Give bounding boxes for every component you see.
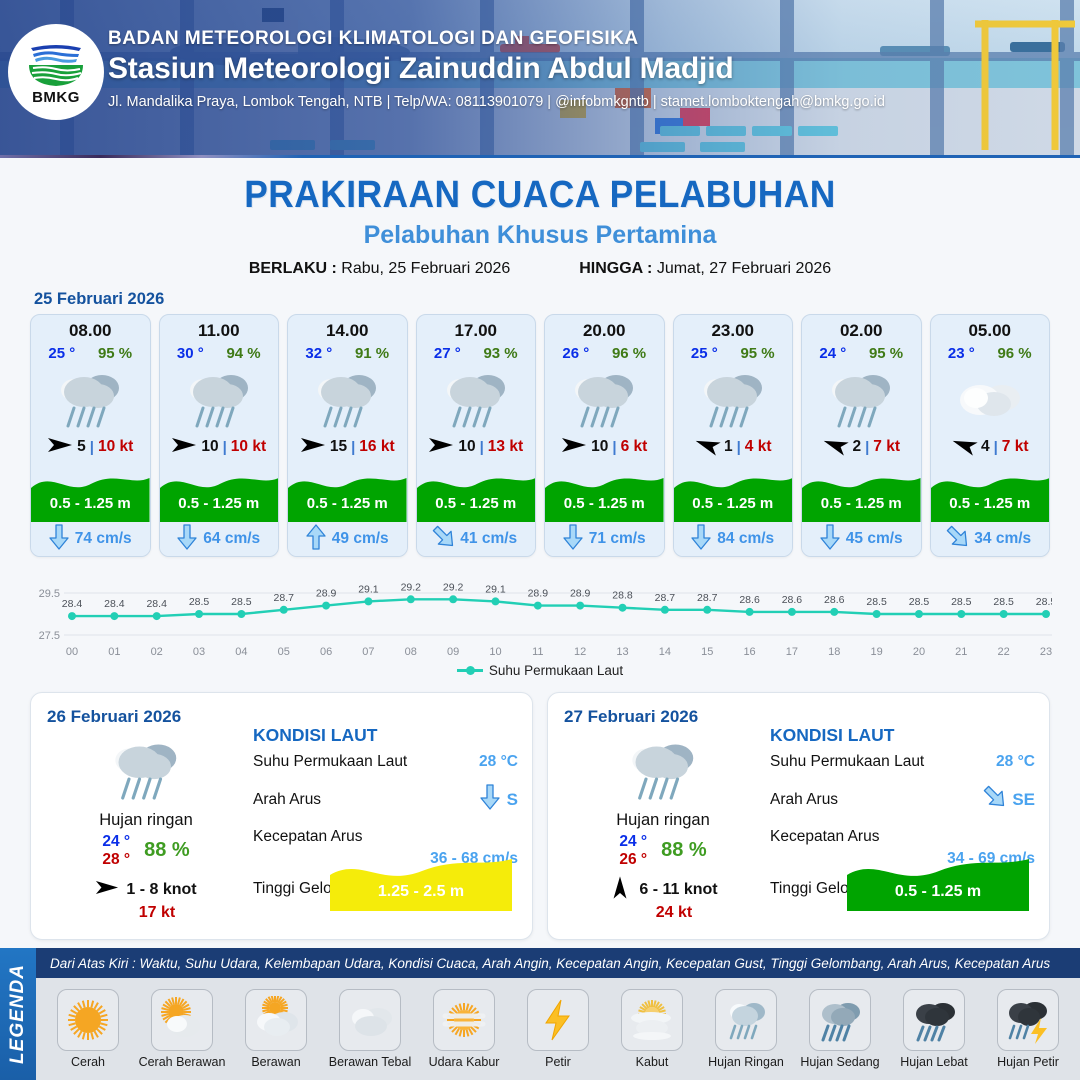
- current-direction-arrow-icon: [820, 524, 840, 555]
- wind-gust: 4 kt: [745, 438, 772, 456]
- svg-text:09: 09: [447, 646, 459, 658]
- weather-hujan-ringan-icon: [51, 731, 241, 809]
- svg-text:02: 02: [151, 646, 163, 658]
- hingga-value: Jumat, 27 Februari 2026: [657, 260, 831, 277]
- legend-items: Cerah Cerah Berawan Berawan Berawan Teba…: [36, 978, 1080, 1080]
- card-wave: 0.5 - 1.25 m: [674, 462, 793, 522]
- forecast-card: 08.00 25 ° 95 % 5 | 10 kt 0.5 - 1.25 m: [30, 314, 151, 557]
- wind-gust: 6 kt: [621, 438, 648, 456]
- wind-direction-arrow-icon: [951, 436, 977, 459]
- wind-speed: 4: [981, 438, 990, 456]
- legend-item: Kabut: [606, 989, 698, 1069]
- svg-text:10: 10: [489, 646, 501, 658]
- svg-text:06: 06: [320, 646, 332, 658]
- svg-text:18: 18: [828, 646, 840, 658]
- daily-humidity: 88 %: [144, 839, 190, 862]
- card-wind: 10 | 13 kt: [417, 434, 536, 460]
- card-wind: 1 | 4 kt: [674, 434, 793, 460]
- wind-gust: 13 kt: [488, 438, 523, 456]
- svg-text:28.7: 28.7: [274, 592, 295, 604]
- legend-label: Suhu Permukaan Laut: [489, 663, 623, 678]
- weather-berawan-icon: [931, 362, 1050, 436]
- svg-text:28.4: 28.4: [62, 598, 83, 610]
- wind-direction-arrow-icon: [561, 436, 587, 459]
- title-block: PRAKIRAAN CUACA PELABUHAN Pelabuhan Khus…: [0, 174, 1080, 278]
- card-wave: 0.5 - 1.25 m: [417, 462, 536, 522]
- svg-text:29.5: 29.5: [39, 588, 60, 600]
- legend-item-label: Cerah: [71, 1055, 105, 1069]
- chart-legend: Suhu Permukaan Laut: [28, 663, 1052, 678]
- svg-text:08: 08: [405, 646, 417, 658]
- legend-item-label: Berawan: [251, 1055, 300, 1069]
- daily-wind-direction-arrow-icon: [95, 879, 119, 901]
- daily-forecast-panel: 26 Februari 2026 Hujan ringan 24 ° 28 ° …: [30, 692, 533, 940]
- svg-text:28.9: 28.9: [316, 588, 337, 600]
- card-wave: 0.5 - 1.25 m: [31, 462, 150, 522]
- svg-text:01: 01: [108, 646, 120, 658]
- wind-separator: |: [994, 439, 998, 456]
- wave-height: 0.5 - 1.25 m: [931, 495, 1050, 512]
- current-speed: 49 cm/s: [332, 530, 389, 548]
- hourly-forecast-row: 08.00 25 ° 95 % 5 | 10 kt 0.5 - 1.25 m: [0, 314, 1080, 557]
- daily-wave-value: 0.5 - 1.25 m: [847, 883, 1029, 901]
- current-direction-arrow-icon: [434, 524, 454, 555]
- clouds-icon: [339, 989, 401, 1051]
- svg-text:28.6: 28.6: [824, 594, 845, 606]
- daily-forecast-panel: 27 Februari 2026 Hujan ringan 24 ° 26 ° …: [547, 692, 1050, 940]
- current-speed-label: Kecepatan Arus: [253, 828, 362, 846]
- card-temperature: 24 °: [819, 345, 846, 362]
- legend-item-label: Kabut: [636, 1055, 669, 1069]
- weather-hujan-ringan-icon: [545, 362, 664, 436]
- wind-direction-arrow-icon: [300, 436, 326, 459]
- card-humidity: 95 %: [740, 345, 774, 362]
- card-humidity: 96 %: [997, 345, 1031, 362]
- current-speed: 74 cm/s: [75, 530, 132, 548]
- legend-item: Berawan: [230, 989, 322, 1069]
- legend-line-swatch: [457, 669, 483, 672]
- current-direction-value: SE: [1012, 790, 1035, 810]
- current-direction-arrow-icon: [948, 524, 968, 555]
- card-wave: 0.5 - 1.25 m: [802, 462, 921, 522]
- daily-gust: 24 kt: [590, 904, 758, 922]
- wind-separator: |: [737, 439, 741, 456]
- daily-temp-min: 24 °: [102, 833, 130, 851]
- svg-text:14: 14: [659, 646, 671, 658]
- legend-item-label: Hujan Lebat: [900, 1055, 967, 1069]
- svg-text:04: 04: [235, 646, 247, 658]
- card-time: 23.00: [674, 321, 793, 341]
- card-temperature: 30 °: [177, 345, 204, 362]
- svg-text:28.5: 28.5: [189, 596, 210, 608]
- thunderstorm-icon: [997, 989, 1059, 1051]
- svg-text:05: 05: [278, 646, 290, 658]
- berlaku-label: BERLAKU :: [249, 260, 337, 277]
- svg-text:27.5: 27.5: [39, 630, 60, 642]
- svg-text:28.8: 28.8: [612, 590, 633, 602]
- agency-name: BADAN METEOROLOGI KLIMATOLOGI DAN GEOFIS…: [108, 28, 885, 50]
- legend-item: Udara Kabur: [418, 989, 510, 1069]
- legend-item-label: Hujan Sedang: [800, 1055, 879, 1069]
- forecast-card: 17.00 27 ° 93 % 10 | 13 kt 0.5 - 1.25 m: [416, 314, 537, 557]
- wave-height: 0.5 - 1.25 m: [417, 495, 536, 512]
- card-wave: 0.5 - 1.25 m: [160, 462, 279, 522]
- svg-text:28.5: 28.5: [866, 596, 887, 608]
- legend-item-label: Hujan Ringan: [708, 1055, 784, 1069]
- current-direction-label: Arah Arus: [253, 791, 321, 809]
- card-wave: 0.5 - 1.25 m: [288, 462, 407, 522]
- sea-condition-title: KONDISI LAUT: [253, 725, 518, 746]
- card-current: 41 cm/s: [417, 522, 536, 556]
- current-speed: 34 cm/s: [974, 530, 1031, 548]
- current-direction-arrow-icon: [177, 524, 197, 555]
- wind-direction-arrow-icon: [428, 436, 454, 459]
- svg-text:28.5: 28.5: [231, 596, 252, 608]
- wind-gust: 16 kt: [359, 438, 394, 456]
- svg-text:17: 17: [786, 646, 798, 658]
- svg-text:00: 00: [66, 646, 78, 658]
- daily-humidity: 88 %: [661, 839, 707, 862]
- current-speed-label: Kecepatan Arus: [770, 828, 879, 846]
- card-humidity: 95 %: [98, 345, 132, 362]
- svg-text:28.7: 28.7: [655, 592, 676, 604]
- legend-item: Hujan Lebat: [888, 989, 980, 1069]
- sun-cloud-icon: [151, 989, 213, 1051]
- page-title: PRAKIRAAN CUACA PELABUHAN: [38, 174, 1042, 217]
- daily-condition: Hujan ringan: [568, 811, 758, 830]
- wind-speed: 15: [330, 438, 347, 456]
- forecast-date-label: 25 Februari 2026: [34, 290, 1080, 309]
- heavy-rain-icon: [903, 989, 965, 1051]
- card-wind: 15 | 16 kt: [288, 434, 407, 460]
- svg-text:13: 13: [616, 646, 628, 658]
- weather-hujan-ringan-icon: [674, 362, 793, 436]
- moderate-rain-icon: [809, 989, 871, 1051]
- daily-temp-max: 26 °: [619, 851, 647, 869]
- daily-wave-box: 0.5 - 1.25 m: [847, 849, 1029, 911]
- daily-wind-range: 1 - 8 knot: [126, 881, 196, 899]
- station-name: Stasiun Meteorologi Zainuddin Abdul Madj…: [108, 52, 885, 86]
- svg-text:28.9: 28.9: [570, 588, 591, 600]
- svg-text:28.6: 28.6: [739, 594, 760, 606]
- card-current: 74 cm/s: [31, 522, 150, 556]
- card-time: 08.00: [31, 321, 150, 341]
- contact-info: Jl. Mandalika Praya, Lombok Tengah, NTB …: [108, 94, 885, 110]
- svg-text:12: 12: [574, 646, 586, 658]
- card-wind: 2 | 7 kt: [802, 434, 921, 460]
- current-direction-arrow-icon: [563, 524, 583, 555]
- daily-condition: Hujan ringan: [51, 811, 241, 830]
- daily-date: 27 Februari 2026: [564, 707, 1033, 727]
- legend-item: Hujan Sedang: [794, 989, 886, 1069]
- svg-text:15: 15: [701, 646, 713, 658]
- wind-speed: 1: [724, 438, 733, 456]
- wind-speed: 5: [77, 438, 86, 456]
- card-temperature: 25 °: [48, 345, 75, 362]
- wind-separator: |: [351, 439, 355, 456]
- legend-item: Hujan Petir: [982, 989, 1074, 1069]
- svg-text:28.5: 28.5: [951, 596, 972, 608]
- berlaku-value: Rabu, 25 Februari 2026: [341, 260, 510, 277]
- card-wave: 0.5 - 1.25 m: [931, 462, 1050, 522]
- card-current: 49 cm/s: [288, 522, 407, 556]
- wind-speed: 10: [591, 438, 608, 456]
- current-direction-arrow-icon: [691, 524, 711, 555]
- legend-item: Cerah: [42, 989, 134, 1069]
- current-speed: 64 cm/s: [203, 530, 260, 548]
- forecast-card: 02.00 24 ° 95 % 2 | 7 kt 0.5 - 1.25 m: [801, 314, 922, 557]
- card-time: 02.00: [802, 321, 921, 341]
- svg-text:28.5: 28.5: [993, 596, 1014, 608]
- sst-value: 28 °C: [479, 753, 518, 771]
- wind-separator: |: [612, 439, 616, 456]
- card-temperature: 32 °: [305, 345, 332, 362]
- wind-separator: |: [223, 439, 227, 456]
- current-direction-arrow-icon: [49, 524, 69, 555]
- sst-value: 28 °C: [996, 753, 1035, 771]
- card-time: 14.00: [288, 321, 407, 341]
- current-speed: 41 cm/s: [460, 530, 517, 548]
- card-humidity: 94 %: [226, 345, 260, 362]
- light-rain-icon: [715, 989, 777, 1051]
- weather-hujan-ringan-icon: [568, 731, 758, 809]
- legend-section: LEGENDA Dari Atas Kiri : Waktu, Suhu Uda…: [0, 948, 1080, 1080]
- svg-text:29.1: 29.1: [485, 583, 506, 595]
- card-wind: 10 | 10 kt: [160, 434, 279, 460]
- svg-text:16: 16: [743, 646, 755, 658]
- daily-wave-box: 1.25 - 2.5 m: [330, 849, 512, 911]
- legend-item: Berawan Tebal: [324, 989, 416, 1069]
- current-speed: 84 cm/s: [717, 530, 774, 548]
- wind-speed: 10: [458, 438, 475, 456]
- current-direction-value: S: [507, 790, 518, 810]
- daily-date: 26 Februari 2026: [47, 707, 516, 727]
- card-current: 84 cm/s: [674, 522, 793, 556]
- daily-current-arrow-icon: [985, 784, 1005, 815]
- svg-text:19: 19: [870, 646, 882, 658]
- legend-item: Hujan Ringan: [700, 989, 792, 1069]
- forecast-card: 05.00 23 ° 96 % 4 | 7 kt 0.5 - 1.25 m 34…: [930, 314, 1051, 557]
- card-wind: 10 | 6 kt: [545, 434, 664, 460]
- card-wind: 5 | 10 kt: [31, 434, 150, 460]
- card-time: 11.00: [160, 321, 279, 341]
- wind-gust: 7 kt: [873, 438, 900, 456]
- page-subtitle: Pelabuhan Khusus Pertamina: [0, 221, 1080, 250]
- haze-icon: [433, 989, 495, 1051]
- card-current: 34 cm/s: [931, 522, 1050, 556]
- daily-wind-range: 6 - 11 knot: [639, 881, 717, 899]
- wind-speed: 10: [201, 438, 218, 456]
- card-wind: 4 | 7 kt: [931, 434, 1050, 460]
- legend-item-label: Petir: [545, 1055, 571, 1069]
- wind-direction-arrow-icon: [47, 436, 73, 459]
- card-time: 17.00: [417, 321, 536, 341]
- fog-icon: [621, 989, 683, 1051]
- wave-height: 0.5 - 1.25 m: [674, 495, 793, 512]
- card-time: 20.00: [545, 321, 664, 341]
- svg-text:28.4: 28.4: [104, 598, 125, 610]
- bmkg-logo-text: BMKG: [32, 89, 80, 106]
- daily-current-arrow-icon: [480, 784, 500, 815]
- legend-item: Cerah Berawan: [136, 989, 228, 1069]
- daily-wave-value: 1.25 - 2.5 m: [330, 883, 512, 901]
- daily-forecast-row: 26 Februari 2026 Hujan ringan 24 ° 28 ° …: [0, 686, 1080, 940]
- svg-text:21: 21: [955, 646, 967, 658]
- weather-hujan-ringan-icon: [417, 362, 536, 436]
- daily-wind-direction-arrow-icon: [608, 879, 632, 901]
- svg-text:28.5: 28.5: [1036, 596, 1052, 608]
- bmkg-logo: BMKG: [8, 24, 104, 120]
- wind-separator: |: [90, 439, 94, 456]
- card-temperature: 27 °: [434, 345, 461, 362]
- card-current: 45 cm/s: [802, 522, 921, 556]
- wave-height: 0.5 - 1.25 m: [160, 495, 279, 512]
- bmkg-logo-mark: [25, 38, 87, 88]
- wind-direction-arrow-icon: [171, 436, 197, 459]
- current-speed: 45 cm/s: [846, 530, 903, 548]
- daily-temp-min: 24 °: [619, 833, 647, 851]
- legend-sidebar-label: LEGENDA: [7, 964, 29, 1064]
- cloud-sun-icon: [245, 989, 307, 1051]
- wind-direction-arrow-icon: [694, 436, 720, 459]
- svg-text:11: 11: [532, 646, 543, 658]
- card-wave: 0.5 - 1.25 m: [545, 462, 664, 522]
- wind-gust: 10 kt: [98, 438, 133, 456]
- current-direction-arrow-icon: [306, 524, 326, 555]
- svg-text:28.7: 28.7: [697, 592, 718, 604]
- card-temperature: 25 °: [691, 345, 718, 362]
- page-header: BMKG BADAN METEOROLOGI KLIMATOLOGI DAN G…: [0, 0, 1080, 158]
- svg-text:23: 23: [1040, 646, 1052, 658]
- svg-text:29.2: 29.2: [443, 581, 464, 593]
- wind-gust: 10 kt: [231, 438, 266, 456]
- svg-text:28.9: 28.9: [528, 588, 549, 600]
- sea-condition-title: KONDISI LAUT: [770, 725, 1035, 746]
- legend-item-label: Berawan Tebal: [329, 1055, 411, 1069]
- current-direction-label: Arah Arus: [770, 791, 838, 809]
- card-current: 71 cm/s: [545, 522, 664, 556]
- sun-icon: [57, 989, 119, 1051]
- card-humidity: 91 %: [355, 345, 389, 362]
- sst-chart: 29.527.528.40028.40128.40228.50328.50428…: [28, 571, 1052, 686]
- svg-text:07: 07: [362, 646, 374, 658]
- weather-hujan-ringan-icon: [31, 362, 150, 436]
- svg-text:28.4: 28.4: [146, 598, 167, 610]
- forecast-card: 11.00 30 ° 94 % 10 | 10 kt 0.5 - 1.25 m: [159, 314, 280, 557]
- wave-height: 0.5 - 1.25 m: [31, 495, 150, 512]
- sst-label: Suhu Permukaan Laut: [770, 753, 924, 771]
- svg-text:28.6: 28.6: [782, 594, 803, 606]
- card-temperature: 26 °: [562, 345, 589, 362]
- wind-separator: |: [480, 439, 484, 456]
- card-humidity: 95 %: [869, 345, 903, 362]
- wind-speed: 2: [852, 438, 861, 456]
- legend-item-label: Hujan Petir: [997, 1055, 1059, 1069]
- svg-text:20: 20: [913, 646, 925, 658]
- legend-item-label: Udara Kabur: [429, 1055, 500, 1069]
- svg-text:29.2: 29.2: [401, 581, 422, 593]
- legend-item: Petir: [512, 989, 604, 1069]
- forecast-card: 20.00 26 ° 96 % 10 | 6 kt 0.5 - 1.25 m: [544, 314, 665, 557]
- wind-direction-arrow-icon: [822, 436, 848, 459]
- wind-gust: 7 kt: [1002, 438, 1029, 456]
- svg-text:03: 03: [193, 646, 205, 658]
- wave-height: 0.5 - 1.25 m: [545, 495, 664, 512]
- lightning-icon: [527, 989, 589, 1051]
- legend-sidebar: LEGENDA: [0, 948, 36, 1080]
- svg-text:29.1: 29.1: [358, 583, 379, 595]
- daily-gust: 17 kt: [73, 904, 241, 922]
- card-temperature: 23 °: [948, 345, 975, 362]
- hingga-label: HINGGA :: [579, 260, 652, 277]
- sst-label: Suhu Permukaan Laut: [253, 753, 407, 771]
- svg-text:22: 22: [998, 646, 1010, 658]
- weather-hujan-ringan-icon: [160, 362, 279, 436]
- card-time: 05.00: [931, 321, 1050, 341]
- legend-caption: Dari Atas Kiri : Waktu, Suhu Udara, Kele…: [36, 948, 1080, 978]
- current-speed: 71 cm/s: [589, 530, 646, 548]
- wind-separator: |: [865, 439, 869, 456]
- wave-height: 0.5 - 1.25 m: [802, 495, 921, 512]
- legend-item-label: Cerah Berawan: [139, 1055, 226, 1069]
- header-bottom-rule: [0, 155, 1080, 158]
- weather-hujan-ringan-icon: [802, 362, 921, 436]
- svg-text:28.5: 28.5: [909, 596, 930, 608]
- forecast-card: 14.00 32 ° 91 % 15 | 16 kt 0.5 - 1.25 m: [287, 314, 408, 557]
- forecast-card: 23.00 25 ° 95 % 1 | 4 kt 0.5 - 1.25 m: [673, 314, 794, 557]
- weather-hujan-ringan-icon: [288, 362, 407, 436]
- card-humidity: 93 %: [483, 345, 517, 362]
- validity-period: BERLAKU : Rabu, 25 Februari 2026 HINGGA …: [0, 260, 1080, 278]
- card-humidity: 96 %: [612, 345, 646, 362]
- daily-temp-max: 28 °: [102, 851, 130, 869]
- wave-height: 0.5 - 1.25 m: [288, 495, 407, 512]
- card-current: 64 cm/s: [160, 522, 279, 556]
